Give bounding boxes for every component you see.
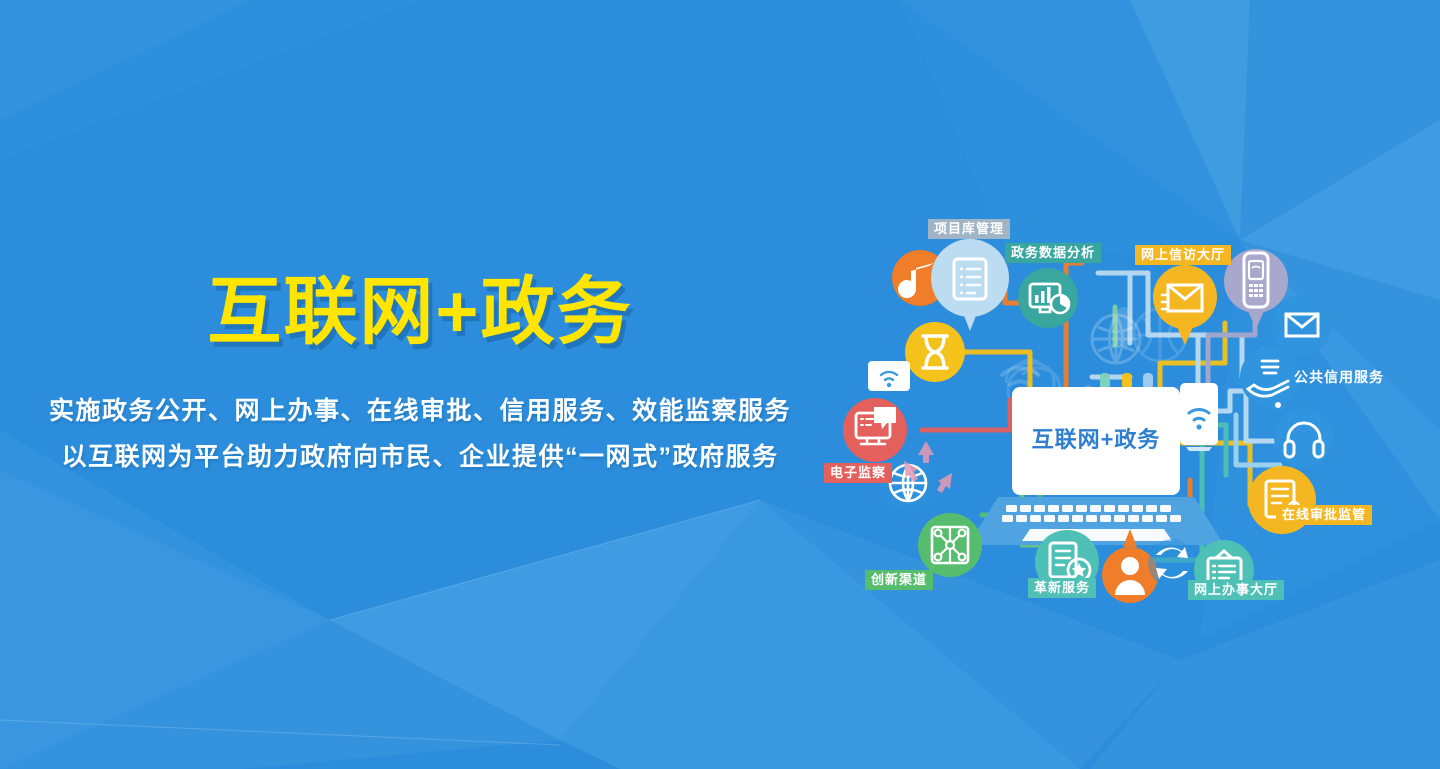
document-list-icon [931,239,1009,331]
monitor-chat-icon [843,398,907,462]
page-title: 互联网+政务 [0,270,840,354]
label-online-hall: 网上办事大厅 [1188,580,1284,600]
network-graph-icon [918,513,982,577]
bar-chart-icon [1018,268,1078,328]
subtitle-line-2: 以互联网为平台助力政府向市民、企业提供“一网式”政府服务 [0,434,840,480]
hero-copy: 互联网+政务 实施政务公开、网上办事、在线审批、信用服务、效能监察服务 以互联网… [0,270,840,480]
label-e-supervision: 电子监察 [824,463,892,483]
label-data-analysis: 政务数据分析 [1005,243,1101,263]
illustration: 互联网+政务 项目库管理 政务数据分析 网上信访大厅 公共信用服务 在线审批监管… [830,215,1430,635]
label-innovation-channel: 创新渠道 [865,570,933,590]
globe-decor-icon [1092,315,1140,363]
wifi-tablet-icon [1180,383,1218,451]
hourglass-icon [905,322,965,382]
laptop-screen-text: 互联网+政务 [1032,427,1161,452]
label-project-library: 项目库管理 [928,219,1010,239]
banner-root: 互联网+政务 实施政务公开、网上办事、在线审批、信用服务、效能监察服务 以互联网… [0,0,1440,769]
label-public-credit: 公共信用服务 [1288,367,1390,387]
hero-subtitle: 实施政务公开、网上办事、在线审批、信用服务、效能监察服务 以互联网为平台助力政府… [0,388,840,480]
label-online-approval: 在线审批监管 [1276,505,1372,525]
headphones-icon [1274,407,1334,467]
subtitle-line-1: 实施政务公开、网上办事、在线审批、信用服务、效能监察服务 [0,388,840,434]
label-online-petition: 网上信访大厅 [1135,245,1231,265]
wifi-router-icon [868,361,910,391]
label-reform-service: 革新服务 [1028,578,1096,598]
envelope-small-icon [1272,295,1332,355]
